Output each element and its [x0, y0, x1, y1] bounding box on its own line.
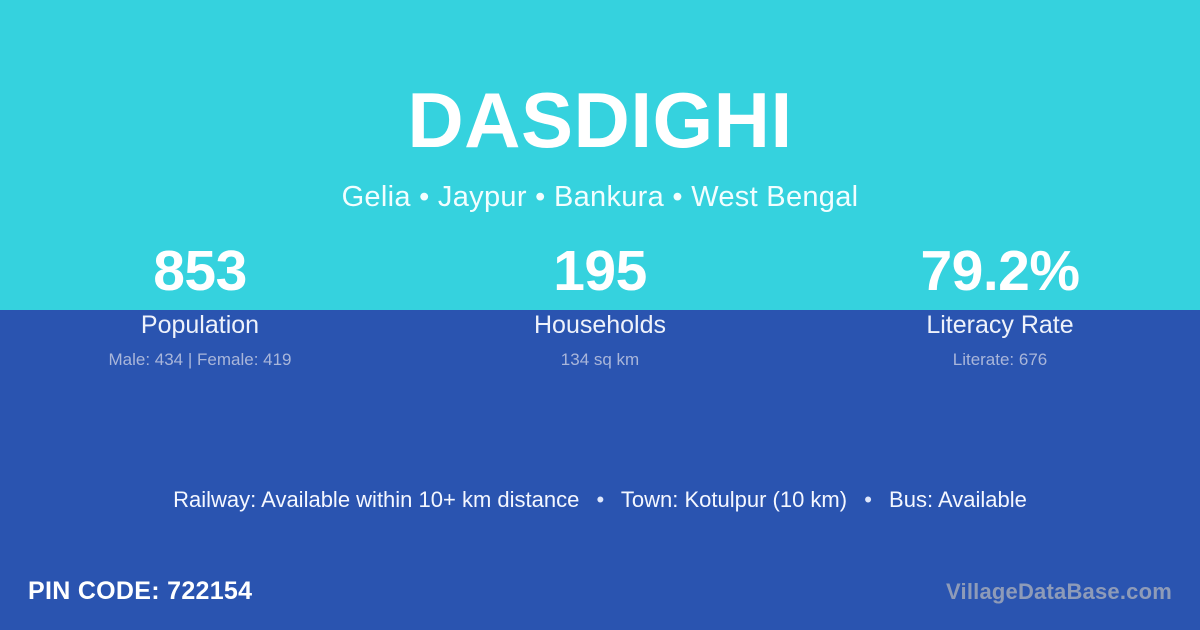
population-label: Population — [0, 310, 400, 340]
village-title: DASDIGHI — [0, 0, 1200, 164]
card-header: DASDIGHI Gelia • Jaypur • Bankura • West… — [0, 0, 1200, 214]
statistics-row: 853 Population Male: 434 | Female: 419 1… — [0, 236, 1200, 370]
pin-code: PIN CODE: 722154 — [28, 574, 252, 608]
literate-count-detail: Literate: 676 — [800, 349, 1200, 370]
bullet-separator-icon: • — [853, 486, 883, 514]
infrastructure-town: Town: Kotulpur (10 km) — [621, 487, 847, 512]
households-value: 195 — [400, 236, 800, 306]
infrastructure-bus: Bus: Available — [889, 487, 1027, 512]
stat-population: 853 Population Male: 434 | Female: 419 — [0, 236, 400, 370]
infrastructure-summary: Railway: Available within 10+ km distanc… — [0, 486, 1200, 514]
infrastructure-railway: Railway: Available within 10+ km distanc… — [173, 487, 579, 512]
card-footer: PIN CODE: 722154 VillageDataBase.com — [0, 574, 1200, 614]
literacy-rate-label: Literacy Rate — [800, 310, 1200, 340]
population-breakdown: Male: 434 | Female: 419 — [0, 349, 400, 370]
site-brand-watermark: VillageDataBase.com — [946, 576, 1172, 607]
area-detail: 134 sq km — [400, 349, 800, 370]
stat-literacy-rate: 79.2% Literacy Rate Literate: 676 — [800, 236, 1200, 370]
village-info-card: DASDIGHI Gelia • Jaypur • Bankura • West… — [0, 0, 1200, 630]
stat-households: 195 Households 134 sq km — [400, 236, 800, 370]
literacy-rate-value: 79.2% — [800, 236, 1200, 306]
households-label: Households — [400, 310, 800, 340]
bullet-separator-icon: • — [585, 486, 615, 514]
population-value: 853 — [0, 236, 400, 306]
location-breadcrumb: Gelia • Jaypur • Bankura • West Bengal — [0, 164, 1200, 214]
